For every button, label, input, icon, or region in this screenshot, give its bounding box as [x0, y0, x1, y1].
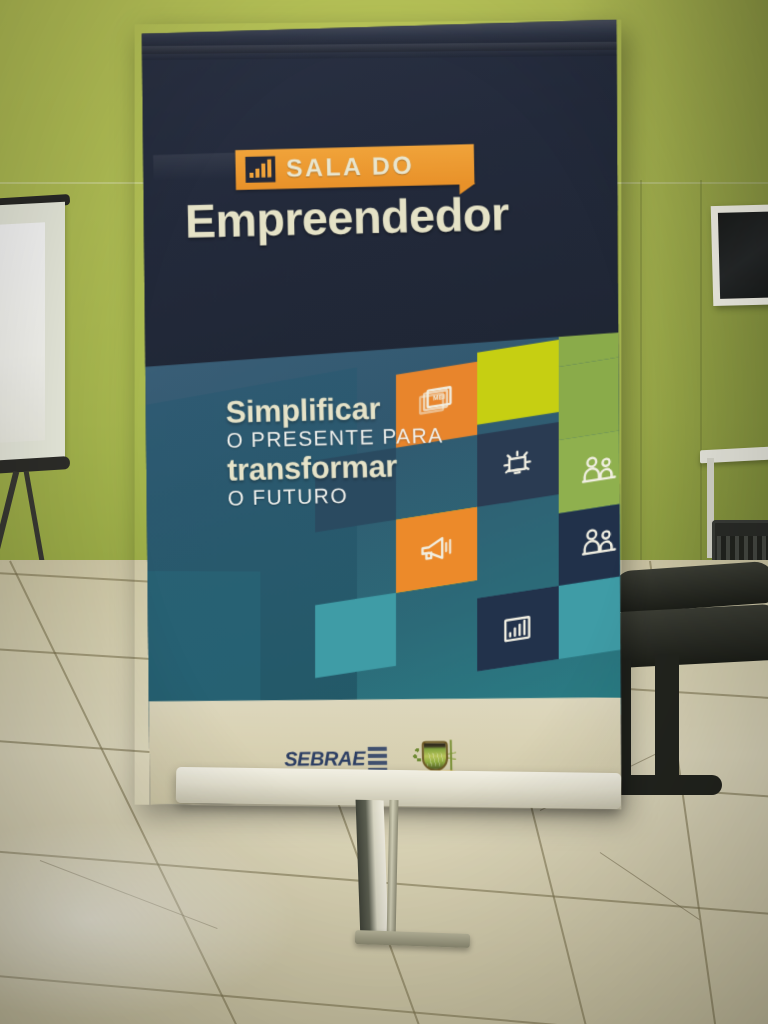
photo-scene: MEI — [0, 0, 768, 1024]
tile-chart — [476, 586, 558, 672]
sala-do-badge: SALA DO — [235, 144, 474, 190]
bar-chart-icon — [245, 156, 275, 183]
crest-shield — [422, 741, 449, 771]
tile-megaphone — [395, 507, 476, 593]
bar-chart-icon — [495, 606, 539, 652]
floor-reflection — [0, 820, 300, 1020]
framed-picture — [711, 204, 768, 306]
picture-image — [718, 211, 768, 299]
banner-title: Empreendedor — [185, 184, 575, 248]
tile-people-green — [558, 427, 621, 513]
sebrae-bars-icon — [368, 746, 388, 771]
bench-seat-front — [608, 603, 768, 668]
rollup-stand-shadow-strip — [356, 800, 389, 940]
mosaic-block — [558, 354, 621, 440]
people-icon — [577, 520, 621, 566]
banner-slogan: Simplificar O PRESENTE PARA transformar … — [225, 390, 529, 513]
rollup-banner: MEI — [135, 20, 622, 810]
mosaic-block — [314, 593, 395, 678]
rollup-stand-cassette — [176, 767, 621, 809]
bench-foot — [612, 775, 722, 795]
projection-screen — [0, 222, 45, 446]
bench-frame-leg — [655, 655, 679, 790]
people-icon — [577, 447, 621, 493]
tile-people-navy — [558, 500, 621, 586]
megaphone-icon — [414, 527, 458, 573]
mosaic-block — [558, 574, 621, 660]
bench-frame-leg — [620, 660, 631, 785]
badge-label: SALA DO — [286, 151, 415, 183]
